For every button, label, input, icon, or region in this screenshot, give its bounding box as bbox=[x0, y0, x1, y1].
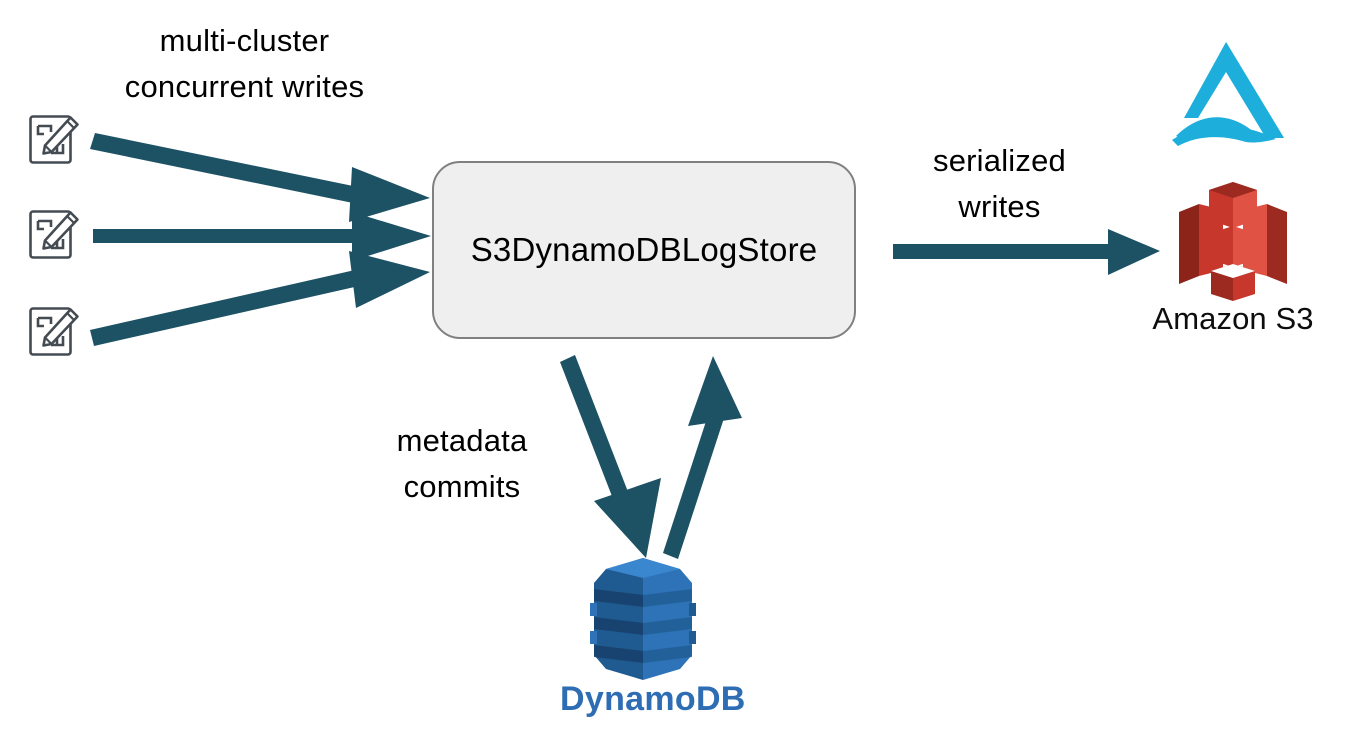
amazon-s3-node[interactable]: Amazon S3 bbox=[1125, 178, 1341, 337]
architecture-diagram: multi-cluster concurrent writes metadata… bbox=[0, 0, 1347, 742]
document-edit-icon bbox=[27, 304, 81, 360]
dynamodb-database-icon bbox=[584, 556, 702, 682]
caption-serialized-writes: serialized writes bbox=[882, 138, 1117, 229]
writer-node-3[interactable] bbox=[27, 304, 81, 360]
arrow-writer-2-to-logstore bbox=[93, 212, 431, 261]
caption-metadata-commits: metadata commits bbox=[352, 418, 572, 509]
arrow-logstore-to-s3 bbox=[893, 229, 1160, 275]
logstore-label: S3DynamoDBLogStore bbox=[471, 231, 818, 269]
caption-multi-cluster-writes: multi-cluster concurrent writes bbox=[72, 18, 417, 109]
document-edit-icon bbox=[27, 112, 81, 168]
dynamodb-node[interactable]: DynamoDB bbox=[560, 556, 725, 719]
arrow-dynamodb-to-logstore bbox=[663, 356, 742, 559]
writer-node-1[interactable] bbox=[27, 112, 81, 168]
amazon-s3-label: Amazon S3 bbox=[1125, 301, 1341, 337]
document-edit-icon bbox=[27, 207, 81, 263]
writer-node-2[interactable] bbox=[27, 207, 81, 263]
arrow-writer-1-to-logstore bbox=[90, 133, 430, 222]
delta-lake-logo-icon bbox=[1162, 36, 1290, 148]
dynamodb-label: DynamoDB bbox=[560, 680, 725, 719]
arrow-writer-3-to-logstore bbox=[90, 251, 430, 346]
amazon-s3-bucket-icon bbox=[1177, 178, 1289, 302]
delta-lake-node bbox=[1156, 36, 1296, 148]
arrow-logstore-to-dynamodb bbox=[560, 355, 661, 558]
logstore-node[interactable]: S3DynamoDBLogStore bbox=[432, 161, 856, 339]
